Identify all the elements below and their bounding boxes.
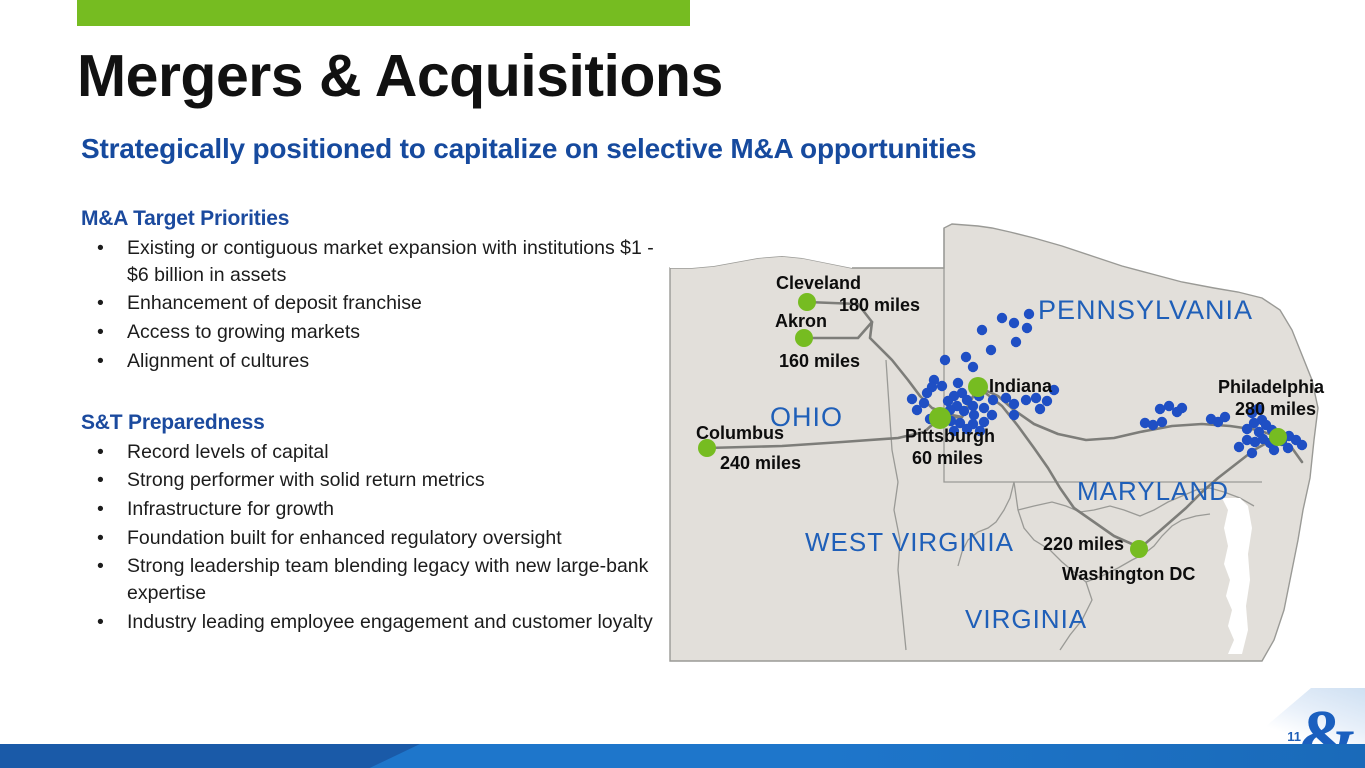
branch-location-dot — [1009, 399, 1019, 409]
branch-location-dot — [1234, 442, 1244, 452]
list-item-text: Industry leading employee engagement and… — [127, 611, 653, 633]
content-column: M&A Target Priorities •Existing or conti… — [79, 207, 679, 637]
city-label-indiana: Indiana — [989, 377, 1052, 396]
branch-location-dot — [1148, 420, 1158, 430]
slide-subtitle: Strategically positioned to capitalize o… — [81, 133, 976, 165]
list-item: •Strong performer with solid return metr… — [79, 467, 679, 494]
branch-location-dot — [1011, 337, 1021, 347]
state-label-virginia: VIRGINIA — [965, 604, 1087, 635]
list-item: •Infrastructure for growth — [79, 496, 679, 523]
list-item-text: Alignment of cultures — [127, 350, 309, 372]
branch-location-dot — [1242, 435, 1252, 445]
branch-location-dot — [1283, 443, 1293, 453]
distance-label-cleveland: 180 miles — [839, 296, 920, 315]
city-label-washington-dc: Washington DC — [1062, 565, 1195, 584]
slide-title: Mergers & Acquisitions — [77, 47, 723, 106]
branch-location-dot — [961, 352, 971, 362]
section-ma-target-priorities: M&A Target Priorities •Existing or conti… — [79, 207, 679, 375]
branch-location-dot — [968, 401, 978, 411]
branch-location-dot — [988, 395, 998, 405]
list-item-text: Infrastructure for growth — [127, 498, 334, 520]
list-item-text: Existing or contiguous market expansion … — [127, 237, 654, 286]
branch-location-dot — [1177, 403, 1187, 413]
list-item: •Strong leadership team blending legacy … — [79, 553, 679, 606]
branch-location-dot — [949, 391, 959, 401]
list-item: •Record levels of capital — [79, 439, 679, 466]
section-heading: M&A Target Priorities — [81, 207, 679, 231]
bullet-dot-icon: • — [97, 235, 104, 262]
branch-location-dot — [1035, 404, 1045, 414]
list-item-text: Strong leadership team blending legacy w… — [127, 555, 648, 604]
branch-location-dot — [919, 398, 929, 408]
branch-location-dot — [1042, 396, 1052, 406]
presentation-slide: Mergers & Acquisitions Strategically pos… — [0, 0, 1365, 768]
list-item: •Foundation built for enhanced regulator… — [79, 525, 679, 552]
branch-location-dot — [1297, 440, 1307, 450]
header-accent-bar — [77, 0, 690, 26]
branch-location-dot — [968, 362, 978, 372]
distance-label-washington-dc: 220 miles — [1043, 535, 1124, 554]
branch-location-dot — [1021, 395, 1031, 405]
state-label-west-virginia: WEST VIRGINIA — [805, 527, 1014, 558]
branch-location-dot — [953, 378, 963, 388]
branch-location-dot — [959, 406, 969, 416]
bullet-dot-icon: • — [97, 496, 104, 523]
bullet-list-ma-target-priorities: •Existing or contiguous market expansion… — [79, 235, 679, 375]
branch-location-dot — [986, 345, 996, 355]
bullet-dot-icon: • — [97, 525, 104, 552]
bullet-dot-icon: • — [97, 319, 104, 346]
bullet-list-st-preparedness: •Record levels of capital •Strong perfor… — [79, 439, 679, 636]
bullet-dot-icon: • — [97, 467, 104, 494]
distance-label-pittsburgh: 60 miles — [912, 449, 983, 468]
bullet-dot-icon: • — [97, 439, 104, 466]
list-item-text: Foundation built for enhanced regulatory… — [127, 527, 562, 549]
state-label-maryland: MARYLAND — [1077, 476, 1229, 507]
section-st-preparedness: S&T Preparedness •Record levels of capit… — [79, 411, 679, 636]
branch-location-dot — [969, 410, 979, 420]
bullet-dot-icon: • — [97, 348, 104, 375]
branch-location-dot — [1157, 417, 1167, 427]
bullet-dot-icon: • — [97, 290, 104, 317]
distance-label-akron: 160 miles — [779, 352, 860, 371]
branch-location-dot — [1155, 404, 1165, 414]
list-item-text: Enhancement of deposit franchise — [127, 292, 422, 314]
footer-band-accent — [0, 744, 420, 768]
distance-label-philadelphia: 280 miles — [1235, 400, 1316, 419]
list-item-text: Record levels of capital — [127, 441, 329, 463]
city-marker-cleveland — [798, 293, 816, 311]
city-label-akron: Akron — [775, 312, 827, 331]
branch-location-dot — [922, 388, 932, 398]
branch-location-dot — [977, 325, 987, 335]
branch-location-dot — [907, 394, 917, 404]
list-item: •Industry leading employee engagement an… — [79, 609, 679, 636]
branch-location-dot — [1220, 412, 1230, 422]
bullet-dot-icon: • — [97, 553, 104, 580]
city-marker-indiana — [968, 377, 988, 397]
branch-location-dot — [1022, 323, 1032, 333]
city-marker-philadelphia — [1269, 428, 1287, 446]
list-item-text: Strong performer with solid return metri… — [127, 469, 485, 491]
branch-location-dot — [1009, 410, 1019, 420]
list-item: •Access to growing markets — [79, 319, 679, 346]
bullet-dot-icon: • — [97, 609, 104, 636]
list-item-text: Access to growing markets — [127, 321, 360, 343]
city-label-cleveland: Cleveland — [776, 274, 861, 293]
branch-location-dot — [1024, 309, 1034, 319]
branch-location-dot — [937, 381, 947, 391]
list-item: •Alignment of cultures — [79, 348, 679, 375]
city-marker-akron — [795, 329, 813, 347]
branch-location-dot — [1247, 448, 1257, 458]
city-label-philadelphia: Philadelphia — [1218, 378, 1324, 397]
list-item: •Enhancement of deposit franchise — [79, 290, 679, 317]
distance-label-columbus: 240 miles — [720, 454, 801, 473]
branch-location-dot — [1269, 445, 1279, 455]
branch-location-dot — [979, 403, 989, 413]
branch-location-dot — [997, 313, 1007, 323]
section-heading: S&T Preparedness — [81, 411, 679, 435]
city-marker-washington-dc — [1130, 540, 1148, 558]
branch-location-dot — [1009, 318, 1019, 328]
city-label-columbus: Columbus — [696, 424, 784, 443]
list-item: •Existing or contiguous market expansion… — [79, 235, 679, 288]
city-label-pittsburgh: Pittsburgh — [905, 427, 995, 446]
branch-location-dot — [1242, 424, 1252, 434]
branch-location-dot — [987, 410, 997, 420]
state-label-pennsylvania: PENNSYLVANIA — [1038, 295, 1253, 326]
branch-footprint-map: PENNSYLVANIA OHIO MARYLAND WEST VIRGINIA… — [662, 210, 1322, 672]
branch-location-dot — [940, 355, 950, 365]
section-spacer — [79, 377, 679, 411]
